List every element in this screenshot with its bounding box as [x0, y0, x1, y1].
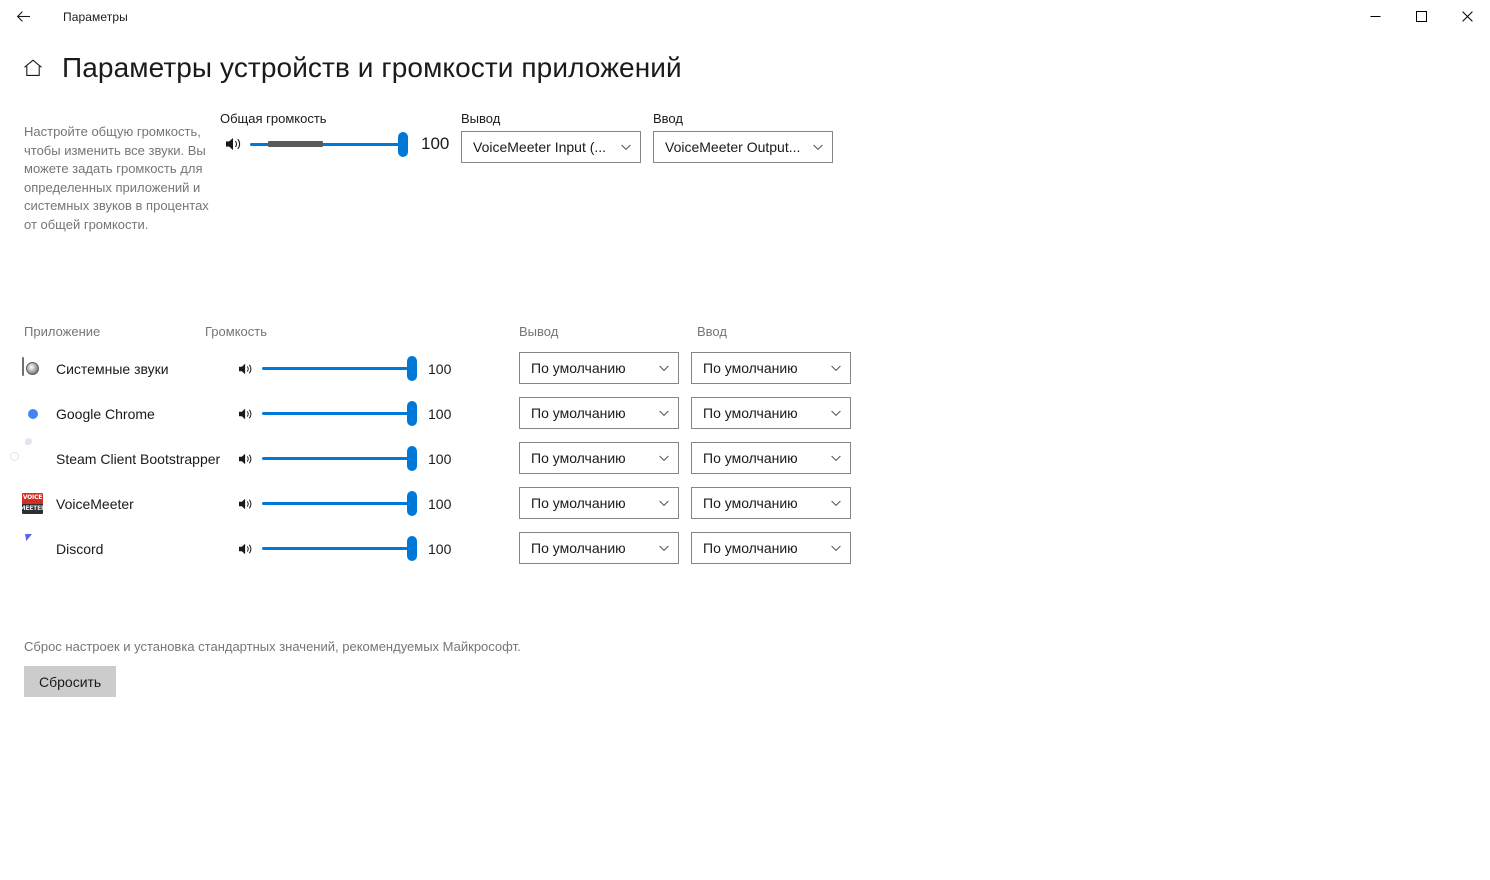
app-input-dropdown[interactable]: По умолчанию	[691, 397, 851, 429]
chevron-down-icon	[658, 407, 670, 419]
app-output-dropdown[interactable]: По умолчанию	[519, 532, 679, 564]
app-name-cell: Google Chrome	[22, 391, 155, 436]
slider-thumb[interactable]	[407, 536, 417, 561]
speaker-volume-icon	[234, 358, 258, 380]
app-name: Steam Client Bootstrapper	[56, 451, 220, 467]
app-name: Discord	[56, 541, 103, 557]
back-button[interactable]	[0, 0, 46, 33]
slider-thumb[interactable]	[407, 491, 417, 516]
app-output-value: По умолчанию	[531, 450, 652, 466]
speaker-volume-icon	[234, 448, 258, 470]
app-volume-slider-cell: 100	[234, 346, 456, 391]
master-input-value: VoiceMeeter Output...	[665, 139, 806, 155]
master-output-label: Вывод	[461, 111, 500, 126]
master-input-label: Ввод	[653, 111, 683, 126]
slider-thumb[interactable]	[407, 401, 417, 426]
master-volume-label: Общая громкость	[220, 111, 327, 126]
app-input-dropdown[interactable]: По умолчанию	[691, 487, 851, 519]
speaker-volume-icon	[234, 403, 258, 425]
app-volume-slider-cell: 100	[234, 526, 456, 571]
close-button[interactable]	[1444, 0, 1490, 33]
app-volume-value: 100	[428, 451, 456, 467]
app-output-dropdown[interactable]: По умолчанию	[519, 442, 679, 474]
speaker-volume-icon	[222, 133, 246, 155]
master-volume-value: 100	[421, 134, 455, 154]
window-controls	[1352, 0, 1490, 33]
app-name: Google Chrome	[56, 406, 155, 422]
app-volume-slider[interactable]	[262, 403, 417, 425]
app-output-value: По умолчанию	[531, 360, 652, 376]
steam-icon	[22, 448, 43, 469]
speaker-volume-icon	[234, 538, 258, 560]
app-volume-slider-cell: 100	[234, 436, 456, 481]
table-row: Google Chrome 100 По умолчанию	[0, 391, 1490, 436]
maximize-button[interactable]	[1398, 0, 1444, 33]
page-title: Параметры устройств и громкости приложен…	[62, 52, 682, 84]
app-input-value: По умолчанию	[703, 450, 824, 466]
slider-track	[262, 457, 417, 460]
master-output-dropdown[interactable]: VoiceMeeter Input (...	[461, 131, 641, 163]
discord-icon	[22, 538, 43, 559]
master-description: Настройте общую громкость, чтобы изменит…	[24, 123, 214, 235]
app-volume-value: 100	[428, 361, 456, 377]
table-row: VOICE MEETER VoiceMeeter 100 П	[0, 481, 1490, 526]
app-output-value: По умолчанию	[531, 540, 652, 556]
app-volume-slider[interactable]	[262, 358, 417, 380]
reset-description: Сброс настроек и установка стандартных з…	[24, 639, 521, 654]
reset-section: Сброс настроек и установка стандартных з…	[24, 639, 521, 697]
app-output-dropdown[interactable]: По умолчанию	[519, 397, 679, 429]
system-sounds-icon	[22, 358, 43, 379]
voicemeeter-icon: VOICE MEETER	[22, 493, 43, 514]
chevron-down-icon	[830, 362, 842, 374]
app-input-value: По умолчанию	[703, 360, 824, 376]
app-volume-slider[interactable]	[262, 493, 417, 515]
app-volume-slider-cell: 100	[234, 391, 456, 436]
app-name-cell: Steam Client Bootstrapper	[22, 436, 220, 481]
master-volume-slider-row: 100	[222, 133, 455, 155]
slider-level-indicator	[268, 141, 323, 147]
chevron-down-icon	[658, 362, 670, 374]
chevron-down-icon	[830, 452, 842, 464]
chevron-down-icon	[658, 452, 670, 464]
slider-thumb[interactable]	[398, 132, 408, 157]
slider-track	[262, 367, 417, 370]
minimize-button[interactable]	[1352, 0, 1398, 33]
app-name-cell: Discord	[22, 526, 103, 571]
voicemeeter-icon-bottom-text: MEETER	[22, 504, 43, 515]
slider-track	[262, 547, 417, 550]
app-name-cell: Системные звуки	[22, 346, 169, 391]
app-input-dropdown[interactable]: По умолчанию	[691, 352, 851, 384]
header-input: Ввод	[697, 324, 727, 339]
slider-thumb[interactable]	[407, 356, 417, 381]
app-volume-value: 100	[428, 406, 456, 422]
app-input-dropdown[interactable]: По умолчанию	[691, 442, 851, 474]
app-output-dropdown[interactable]: По умолчанию	[519, 487, 679, 519]
master-input-dropdown[interactable]: VoiceMeeter Output...	[653, 131, 833, 163]
app-input-value: По умолчанию	[703, 540, 824, 556]
app-volume-list: Приложение Громкость Вывод Ввод Системны…	[0, 324, 1490, 571]
chevron-down-icon	[830, 542, 842, 554]
master-volume-slider[interactable]	[250, 133, 408, 155]
app-name-cell: VOICE MEETER VoiceMeeter	[22, 481, 134, 526]
app-list-headers: Приложение Громкость Вывод Ввод	[0, 324, 1490, 346]
app-input-value: По умолчанию	[703, 495, 824, 511]
header-output: Вывод	[519, 324, 558, 339]
title-bar: Параметры	[0, 0, 1490, 33]
slider-thumb[interactable]	[407, 446, 417, 471]
app-name: VoiceMeeter	[56, 496, 134, 512]
app-volume-value: 100	[428, 541, 456, 557]
app-volume-slider-cell: 100	[234, 481, 456, 526]
table-row: Discord 100 По умолчанию	[0, 526, 1490, 571]
chevron-down-icon	[830, 497, 842, 509]
chevron-down-icon	[620, 141, 632, 153]
chevron-down-icon	[658, 542, 670, 554]
app-name: Системные звуки	[56, 361, 169, 377]
chevron-down-icon	[658, 497, 670, 509]
app-output-dropdown[interactable]: По умолчанию	[519, 352, 679, 384]
page-header: Параметры устройств и громкости приложен…	[0, 52, 1490, 84]
reset-button[interactable]: Сбросить	[24, 666, 116, 697]
table-row: Steam Client Bootstrapper 100 По умолчан…	[0, 436, 1490, 481]
master-volume-section: Настройте общую громкость, чтобы изменит…	[0, 111, 1490, 311]
home-icon[interactable]	[22, 57, 44, 79]
header-application: Приложение	[24, 324, 100, 339]
app-volume-value: 100	[428, 496, 456, 512]
header-volume: Громкость	[205, 324, 267, 339]
app-input-value: По умолчанию	[703, 405, 824, 421]
app-volume-slider[interactable]	[262, 448, 417, 470]
table-row: Системные звуки 100 По умолчанию	[0, 346, 1490, 391]
voicemeeter-icon-top-text: VOICE	[22, 493, 43, 504]
speaker-volume-icon	[234, 493, 258, 515]
chevron-down-icon	[830, 407, 842, 419]
app-output-value: По умолчанию	[531, 495, 652, 511]
slider-track	[262, 412, 417, 415]
chevron-down-icon	[812, 141, 824, 153]
app-output-value: По умолчанию	[531, 405, 652, 421]
window-title: Параметры	[63, 10, 128, 24]
master-output-value: VoiceMeeter Input (...	[473, 139, 614, 155]
slider-track	[262, 502, 417, 505]
app-input-dropdown[interactable]: По умолчанию	[691, 532, 851, 564]
google-chrome-icon	[22, 403, 43, 424]
app-volume-slider[interactable]	[262, 538, 417, 560]
